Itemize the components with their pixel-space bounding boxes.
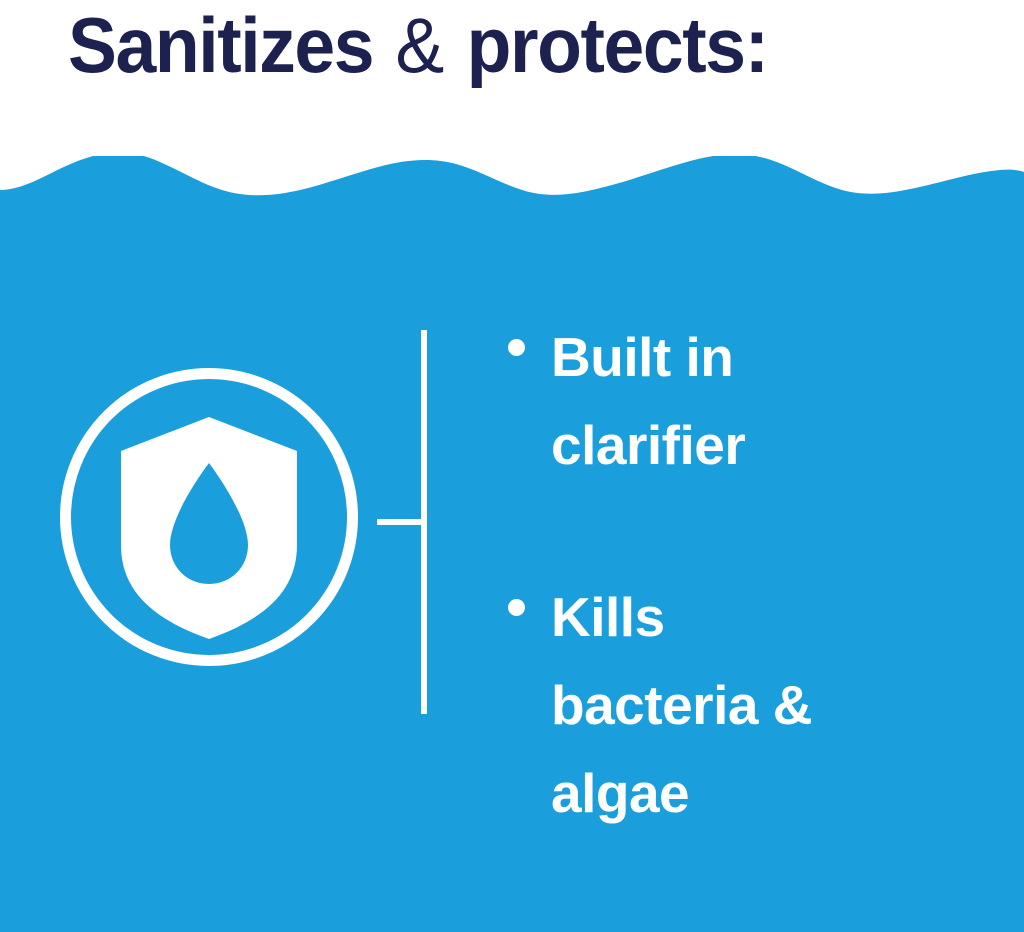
header-band: Sanitizes & protects: bbox=[0, 0, 1024, 156]
bullet-dot-icon bbox=[508, 599, 525, 616]
feature-list: Built in clarifier Kills bacteria & alga… bbox=[504, 313, 944, 837]
title-space-1 bbox=[373, 1, 395, 89]
list-item: Kills bacteria & algae bbox=[504, 573, 841, 837]
page-title-ampersand: & bbox=[395, 1, 444, 89]
feature-label: Kills bacteria & algae bbox=[551, 573, 841, 837]
shield-water-drop-icon bbox=[54, 362, 364, 672]
page-title: Sanitizes & protects: bbox=[68, 0, 768, 93]
list-item: Built in clarifier bbox=[504, 313, 841, 489]
page-title-word-1: Sanitizes bbox=[68, 1, 373, 89]
connector-line bbox=[370, 326, 436, 718]
bullet-dot-icon bbox=[508, 339, 525, 356]
icon-shield-with-drop bbox=[121, 417, 297, 639]
page-title-word-2: protects: bbox=[467, 1, 768, 89]
product-feature-panel: Sanitizes & protects: Built in clarifier… bbox=[0, 0, 1024, 932]
feature-label: Built in clarifier bbox=[551, 313, 841, 489]
title-space-2 bbox=[444, 1, 466, 89]
connector-stub bbox=[377, 519, 427, 525]
